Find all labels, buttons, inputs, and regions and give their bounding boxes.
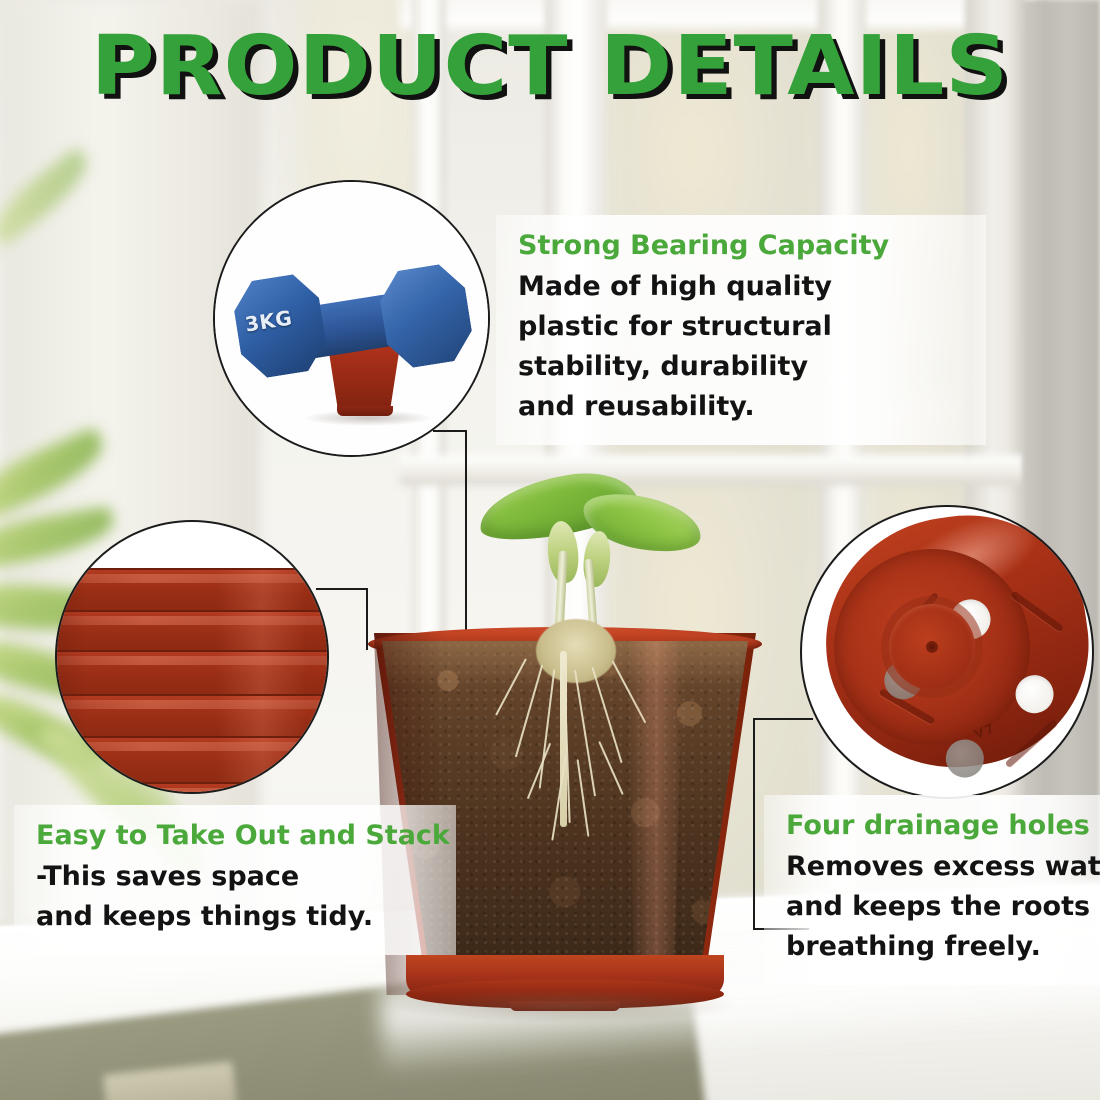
- feature-heading: Four drainage holes: [786, 809, 1100, 843]
- feature-line: plastic for structural: [518, 307, 966, 347]
- inverted-pot-foot: [337, 406, 393, 416]
- feature-heading: Easy to Take Out and Stack: [36, 819, 436, 853]
- feature-panel-drain: Four drainage holes Removes excess water…: [764, 795, 1100, 985]
- feature-line: -This saves space: [36, 857, 436, 897]
- feature-panel-stack: Easy to Take Out and Stack -This saves s…: [14, 805, 456, 955]
- feature-line: breathing freely.: [786, 927, 1100, 967]
- feature-line: and reusability.: [518, 387, 966, 427]
- feature-line: Made of high quality: [518, 267, 966, 307]
- callout-circle-dumbbell: 3KG: [213, 180, 490, 457]
- pot-stack-band: [55, 650, 329, 696]
- dumbbell-scene: 3KG: [215, 182, 488, 455]
- stacked-pots-scene: [55, 568, 329, 794]
- feature-line: Removes excess water: [786, 847, 1100, 887]
- pot-stack-band: [55, 568, 329, 612]
- page-title: PRODUCT DETAILS: [0, 24, 1100, 110]
- pot-stack-band: [55, 736, 329, 784]
- pot-stack-band: [55, 610, 329, 652]
- pot-stack-band: [55, 694, 329, 738]
- infographic-canvas: PRODUCT DETAILS: [0, 0, 1100, 1100]
- feature-heading: Strong Bearing Capacity: [518, 229, 966, 263]
- feature-line: stability, durability: [518, 347, 966, 387]
- feature-line: and keeps things tidy.: [36, 897, 436, 937]
- feature-panel-bearing: Strong Bearing Capacity Made of high qua…: [496, 215, 986, 445]
- product-shadow: [390, 989, 740, 1023]
- feature-line: and keeps the roots: [786, 887, 1100, 927]
- callout-circle-drainage-holes: V7: [800, 505, 1094, 799]
- callout-circle-stacked-pots: [55, 520, 329, 794]
